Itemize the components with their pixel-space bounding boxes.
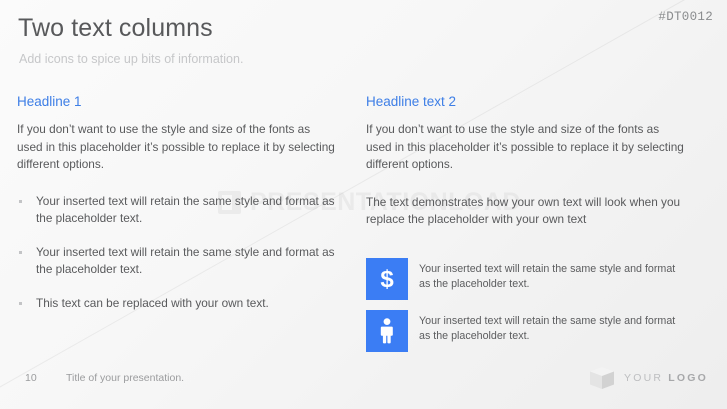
icon-row-text: Your inserted text will retain the same … xyxy=(419,310,686,344)
slide-canvas: PRESENTATIONLOAD Two text columns Add ic… xyxy=(0,0,727,409)
right-column: Headline text 2 If you don’t want to use… xyxy=(366,94,686,352)
icon-row-text: Your inserted text will retain the same … xyxy=(419,258,686,292)
logo-word-2: LOGO xyxy=(668,372,708,384)
page-title: Two text columns xyxy=(18,14,213,43)
template-code: #DT0012 xyxy=(658,10,713,24)
left-paragraph: If you don’t want to use the style and s… xyxy=(17,121,337,174)
right-headline: Headline text 2 xyxy=(366,94,686,109)
right-paragraph: If you don’t want to use the style and s… xyxy=(366,121,686,174)
logo-text: YOUR LOGO xyxy=(624,372,708,384)
page-number: 10 xyxy=(25,372,37,384)
footer-title: Title of your presentation. xyxy=(66,372,184,384)
logo-word-1: YOUR xyxy=(624,372,663,384)
left-headline: Headline 1 xyxy=(17,94,337,109)
icon-row-list: $ Your inserted text will retain the sam… xyxy=(366,258,686,352)
logo: YOUR LOGO xyxy=(589,366,708,390)
dollar-sign-icon[interactable]: $ xyxy=(366,258,408,300)
list-item[interactable]: $ Your inserted text will retain the sam… xyxy=(366,258,686,300)
left-bullet-list: Your inserted text will retain the same … xyxy=(17,193,337,313)
list-item[interactable]: Your inserted text will retain the same … xyxy=(366,310,686,352)
list-item: Your inserted text will retain the same … xyxy=(17,244,337,279)
cube-logo-icon xyxy=(589,366,615,390)
list-item: This text can be replaced with your own … xyxy=(17,295,337,313)
left-column: Headline 1 If you don’t want to use the … xyxy=(17,94,337,312)
svg-text:$: $ xyxy=(380,266,394,293)
page-subtitle: Add icons to spice up bits of informatio… xyxy=(19,52,243,66)
list-item: Your inserted text will retain the same … xyxy=(17,193,337,228)
person-icon[interactable] xyxy=(366,310,408,352)
right-paragraph-2: The text demonstrates how your own text … xyxy=(366,194,686,229)
